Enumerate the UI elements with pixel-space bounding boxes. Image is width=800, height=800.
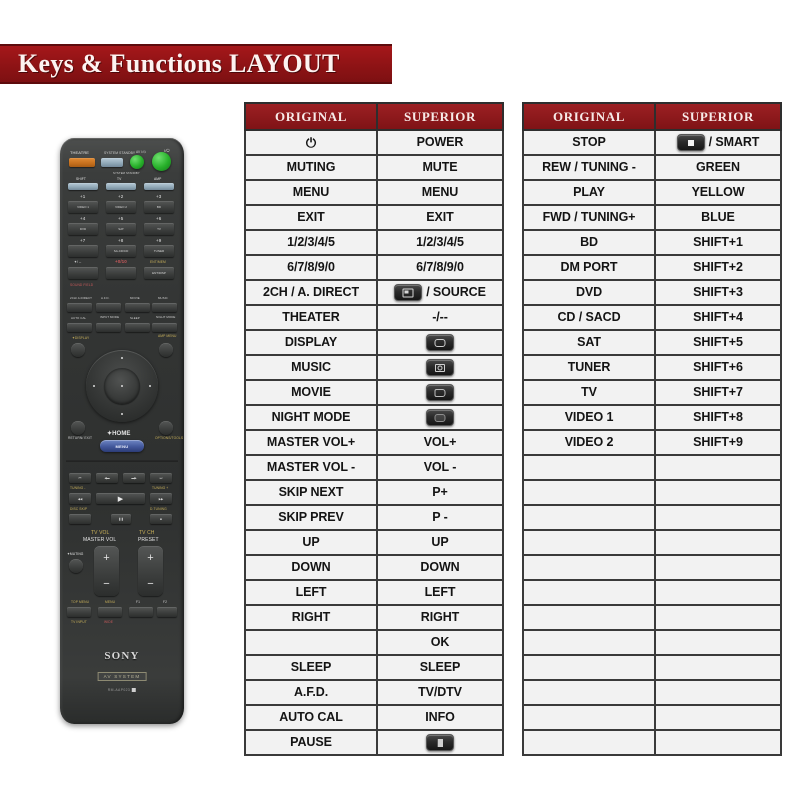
cell-original: ⏻ [245, 130, 377, 155]
muting-button[interactable] [69, 559, 83, 573]
cell-superior: UP [377, 530, 503, 555]
table-row: OK [245, 630, 503, 655]
cell-original: TUNER [523, 355, 655, 380]
cell-content: / SMART [658, 134, 778, 151]
title-banner: Keys & Functions LAYOUT [0, 44, 392, 84]
table-row: VIDEO 2SHIFT+9 [523, 430, 781, 455]
label-top-menu: TOP MENU [71, 600, 89, 604]
play-button[interactable]: ▶ [96, 493, 145, 504]
model-square-icon [132, 688, 136, 692]
cell-content: CD / SACD [526, 311, 652, 324]
cell-text: / SMART [709, 136, 760, 149]
sound-2ch-direct-button[interactable] [67, 303, 92, 312]
cell-content: 6/7/8/9/0 [248, 261, 374, 274]
cell-original: RIGHT [245, 605, 377, 630]
skip-prev-button[interactable]: ⏮ [69, 473, 91, 483]
cell-content: VOL+ [380, 436, 500, 449]
page-title: Keys & Functions LAYOUT [0, 49, 340, 79]
label-tv-input: TV INPUT [71, 620, 87, 624]
f2-button[interactable] [157, 607, 177, 617]
cell-text: EXIT [297, 211, 324, 224]
cell-text: DOWN [291, 561, 330, 574]
stop-button[interactable]: ■ [150, 514, 172, 524]
sound-music-button[interactable] [152, 303, 177, 312]
table-row: NIGHT MODE [245, 405, 503, 430]
cell-content: UP [248, 536, 374, 549]
cell-text: VIDEO 2 [565, 436, 614, 449]
cell-content: LEFT [248, 586, 374, 599]
sleep-button[interactable] [125, 323, 150, 332]
menu-button[interactable]: MENU [100, 440, 144, 452]
cell-text: SAT [577, 336, 601, 349]
cell-content: LEFT [380, 586, 500, 599]
cell-content: FWD / TUNING+ [526, 211, 652, 224]
table-row: 1/2/3/4/51/2/3/4/5 [245, 230, 503, 255]
cell-content: THEATER [248, 311, 374, 324]
cell-original: AUTO CAL [245, 705, 377, 730]
table-row: MASTER VOL -VOL - [245, 455, 503, 480]
cell-superior [655, 580, 781, 605]
cell-superior: YELLOW [655, 180, 781, 205]
cell-text: MUSIC [291, 361, 331, 374]
table-row: BDSHIFT+1 [523, 230, 781, 255]
cell-text: SHIFT+9 [693, 436, 743, 449]
av-system-badge: AV SYSTEM [98, 672, 147, 681]
cell-content: DVD [526, 286, 652, 299]
cell-content: SHIFT+9 [658, 436, 778, 449]
volume-down-icon[interactable]: − [103, 579, 109, 590]
header-superior-right: SUPERIOR [655, 103, 781, 130]
blank-button-1[interactable] [68, 245, 98, 257]
cell-text: 1/2/3/4/5 [287, 236, 335, 249]
cell-superior: / SOURCE [377, 280, 503, 305]
cell-content [380, 409, 500, 426]
dpad[interactable] [86, 350, 158, 422]
table-row: TUNERSHIFT+6 [523, 355, 781, 380]
cell-original: A.F.D. [245, 680, 377, 705]
cell-content: TUNER [526, 361, 652, 374]
cell-original [523, 580, 655, 605]
cell-content: 2CH / A. DIRECT [248, 286, 374, 299]
cell-text: RIGHT [292, 611, 330, 624]
cell-superior [655, 505, 781, 530]
dpad-right-icon[interactable] [149, 385, 151, 387]
table-row: EXITEXIT [245, 205, 503, 230]
cell-superior: INFO [377, 705, 503, 730]
cell-text: MASTER VOL+ [267, 436, 355, 449]
rewind-button[interactable]: ◀◀ [69, 493, 91, 504]
cell-superior: DOWN [377, 555, 503, 580]
cell-text: SHIFT+7 [693, 386, 743, 399]
channel-preset-rocker[interactable]: + − [138, 546, 163, 596]
cell-superior [655, 480, 781, 505]
cell-superior: TV/DTV [377, 680, 503, 705]
cell-original: BD [523, 230, 655, 255]
pause-button[interactable]: ❚❚ [111, 514, 131, 524]
table-row: LEFTLEFT [245, 580, 503, 605]
table-row: MUSIC [245, 355, 503, 380]
cell-text: LEFT [425, 586, 456, 599]
cell-content: ⏻ [248, 136, 374, 149]
table-row [523, 730, 781, 755]
label-key-3: +3 [156, 194, 161, 199]
amp-menu-button[interactable] [159, 343, 173, 357]
bottom-menu-button[interactable] [98, 607, 122, 617]
cell-text: BLUE [701, 211, 735, 224]
cell-text: THEATER [282, 311, 339, 324]
video1-button[interactable]: VIDEO 1 [68, 201, 98, 213]
cell-content: BLUE [658, 211, 778, 224]
cell-original: SKIP PREV [245, 505, 377, 530]
table-row [523, 555, 781, 580]
cell-superior [655, 630, 781, 655]
cell-superior: SHIFT+3 [655, 280, 781, 305]
cell-superior: GREEN [655, 155, 781, 180]
cell-content: / SOURCE [380, 284, 500, 301]
cell-content: 1/2/3/4/5 [380, 236, 500, 249]
dpad-center-dot-icon [121, 385, 123, 387]
label-preset: PRESET [138, 537, 159, 543]
cell-content [380, 384, 500, 401]
cell-original: NIGHT MODE [245, 405, 377, 430]
table-row: ⏻POWER [245, 130, 503, 155]
options-tools-button[interactable] [159, 421, 173, 435]
cell-superior: VOL+ [377, 430, 503, 455]
music-button-icon [426, 359, 454, 376]
cell-superior [377, 405, 503, 430]
cell-superior: SHIFT+7 [655, 380, 781, 405]
cell-content: VIDEO 2 [526, 436, 652, 449]
cell-text: SHIFT+2 [693, 261, 743, 274]
cell-text: P+ [432, 486, 447, 499]
label-key-5: +5 [118, 216, 123, 221]
table-row [523, 655, 781, 680]
cell-superior: P - [377, 505, 503, 530]
shift-button[interactable] [68, 183, 98, 190]
label-key-4: +4 [80, 216, 85, 221]
table-row: SKIP NEXTP+ [245, 480, 503, 505]
label-tuning-minus: TUNING - [70, 486, 85, 490]
label-f1: F1 [136, 600, 140, 604]
pause-button-icon [426, 734, 454, 751]
cell-content: MASTER VOL - [248, 461, 374, 474]
sound-afd-button[interactable] [96, 303, 121, 312]
cell-text: SHIFT+5 [693, 336, 743, 349]
cell-superior: VOL - [377, 455, 503, 480]
cell-content: VIDEO 1 [526, 411, 652, 424]
cell-superior: SHIFT+2 [655, 255, 781, 280]
cell-superior: P+ [377, 480, 503, 505]
cell-content: TV/DTV [380, 686, 500, 699]
amp-mode-button[interactable] [144, 183, 174, 190]
cell-text: AUTO CAL [279, 711, 343, 724]
sat-button[interactable]: SAT [106, 223, 136, 235]
cell-original: EXIT [245, 205, 377, 230]
f1-button[interactable] [129, 607, 153, 617]
cell-text: EXIT [426, 211, 453, 224]
remote-control-image: THEATRE SYSTEM STANDBY AV I/⏻ I/⏻ SYSTEM… [52, 138, 192, 734]
cell-content: MENU [380, 186, 500, 199]
sacd-cd-button[interactable]: SA-CD/CD [106, 245, 136, 257]
table-header-row: ORIGINAL SUPERIOR [245, 103, 503, 130]
header-superior-left: SUPERIOR [377, 103, 503, 130]
cell-text: UP [302, 536, 319, 549]
left-table-body: ⏻POWERMUTINGMUTEMENUMENUEXITEXIT1/2/3/4/… [245, 130, 503, 755]
label-master-vol: MASTER VOL [83, 537, 116, 543]
table-row: MENUMENU [245, 180, 503, 205]
label-wide: WIDE [104, 620, 113, 624]
cell-superior [655, 455, 781, 480]
zero-button[interactable] [106, 267, 136, 279]
table-row: FWD / TUNING+BLUE [523, 205, 781, 230]
cell-content: NIGHT MODE [248, 411, 374, 424]
master-volume-rocker[interactable]: + − [94, 546, 119, 596]
label-shift: SHIFT [76, 177, 86, 181]
label-afd: A.F.D. [101, 296, 109, 300]
cell-text: TUNER [568, 361, 611, 374]
label-2ch-direct: 2CH/ A.DIRECT [70, 296, 92, 300]
top-menu-button[interactable] [67, 607, 91, 617]
cell-content: SHIFT+7 [658, 386, 778, 399]
label-key-8: +8 [118, 238, 123, 243]
cell-text: SKIP NEXT [279, 486, 344, 499]
cell-superior [655, 730, 781, 755]
cell-original [523, 605, 655, 630]
label-sleep: SLEEP [130, 316, 140, 320]
cell-text: NIGHT MODE [272, 411, 351, 424]
label-amp-menu: AMP MENU [158, 334, 177, 338]
cell-content: DOWN [380, 561, 500, 574]
cell-original: REW / TUNING - [523, 155, 655, 180]
source-button-icon [394, 284, 422, 301]
label-av-power: AV I/⏻ [136, 150, 146, 154]
cell-superior [655, 680, 781, 705]
cell-text: SHIFT+6 [693, 361, 743, 374]
display-button[interactable] [71, 343, 85, 357]
volume-up-icon[interactable]: + [103, 553, 109, 564]
cell-superior [655, 705, 781, 730]
cell-content: VOL - [380, 461, 500, 474]
cell-content [380, 734, 500, 751]
cell-original: UP [245, 530, 377, 555]
cell-original [523, 455, 655, 480]
label-input-mode: INPUT MODE [100, 315, 119, 319]
remote-body: THEATRE SYSTEM STANDBY AV I/⏻ I/⏻ SYSTEM… [60, 138, 184, 724]
label-bottom-menu: MENU [105, 600, 115, 604]
cell-superior [655, 555, 781, 580]
cell-content: SKIP NEXT [248, 486, 374, 499]
cell-original: TV [523, 380, 655, 405]
label-key-2: +2 [118, 194, 123, 199]
channel-up-icon[interactable]: + [147, 553, 153, 564]
cell-content: SHIFT+3 [658, 286, 778, 299]
cell-content: MENU [248, 186, 374, 199]
cell-original: SLEEP [245, 655, 377, 680]
model-number: RM-AAP023 [108, 688, 136, 692]
dpad-enter-button[interactable] [104, 368, 140, 404]
label-music: MUSIC [158, 296, 168, 300]
cell-text: DM PORT [561, 261, 618, 274]
cell-original [523, 480, 655, 505]
cell-superior [377, 380, 503, 405]
cell-superior: SHIFT+5 [655, 330, 781, 355]
cell-text: / SOURCE [426, 286, 486, 299]
cell-original: 1/2/3/4/5 [245, 230, 377, 255]
cell-content: BD [526, 236, 652, 249]
label-display: ✦DISPLAY [72, 336, 89, 340]
cell-superior: BLUE [655, 205, 781, 230]
table-row [523, 505, 781, 530]
cell-content: SLEEP [248, 661, 374, 674]
cell-content: SLEEP [380, 661, 500, 674]
cell-text: PAUSE [290, 736, 332, 749]
label-system-standby: SYSTEM STANDBY [113, 171, 140, 175]
right-mapping-table: ORIGINAL SUPERIOR STOP/ SMARTREW / TUNIN… [522, 102, 782, 756]
cell-original: MUTING [245, 155, 377, 180]
cell-content: RIGHT [380, 611, 500, 624]
cell-text: POWER [417, 136, 464, 149]
label-sound-field: SOUND FIELD [70, 283, 93, 287]
table-row: MUTINGMUTE [245, 155, 503, 180]
dpad-down-icon[interactable] [121, 413, 123, 415]
cell-content: SHIFT+1 [658, 236, 778, 249]
cell-superior [377, 730, 503, 755]
cell-superior: POWER [377, 130, 503, 155]
sound-movie-button[interactable] [125, 303, 150, 312]
header-original-left: ORIGINAL [245, 103, 377, 130]
label-tuning-plus: TUNING + [152, 486, 168, 490]
label-amp: AMP [154, 177, 161, 181]
table-row: UPUP [245, 530, 503, 555]
input-mode-button[interactable] [96, 323, 121, 332]
cell-superior: EXIT [377, 205, 503, 230]
cell-original: THEATER [245, 305, 377, 330]
cell-content: SKIP PREV [248, 511, 374, 524]
cell-content: SHIFT+4 [658, 311, 778, 324]
cell-text: -/-- [432, 311, 448, 324]
cell-superior: SHIFT+1 [655, 230, 781, 255]
table-row [523, 705, 781, 730]
label-return-exit: RETURN/ EXIT [68, 436, 92, 440]
table-row: DVDSHIFT+3 [523, 280, 781, 305]
cell-superior: SHIFT+6 [655, 355, 781, 380]
cell-content: DM PORT [526, 261, 652, 274]
cell-text: GREEN [696, 161, 740, 174]
cell-content: DOWN [248, 561, 374, 574]
cell-superior: 6/7/8/9/0 [377, 255, 503, 280]
cell-content: P+ [380, 486, 500, 499]
cell-original: DM PORT [523, 255, 655, 280]
auto-cal-button[interactable] [67, 323, 92, 332]
tv-input-button[interactable]: TV [144, 223, 174, 235]
dpad-left-icon[interactable] [93, 385, 95, 387]
cell-text: 6/7/8/9/0 [287, 261, 335, 274]
label-home: ✦HOME [107, 430, 131, 437]
step-back-button[interactable]: ◀▬ [96, 473, 118, 483]
dvd-button[interactable]: DVD [68, 223, 98, 235]
cell-text: STOP [572, 136, 605, 149]
sony-logo: SONY [60, 650, 184, 662]
table-row: STOP/ SMART [523, 130, 781, 155]
channel-down-icon[interactable]: − [147, 579, 153, 590]
power-icon: ⏻ [306, 136, 316, 149]
table-row: SATSHIFT+5 [523, 330, 781, 355]
cell-superior: 1/2/3/4/5 [377, 230, 503, 255]
cell-content: REW / TUNING - [526, 161, 652, 174]
label-d-tuning: D.TUNING [150, 507, 167, 511]
table-row [523, 630, 781, 655]
ent-disp-button[interactable]: ENT/DISP [144, 267, 174, 279]
system-standby-button[interactable] [101, 158, 123, 167]
cell-content: MUTE [380, 161, 500, 174]
cell-original [523, 505, 655, 530]
av-power-button[interactable] [130, 155, 144, 169]
return-exit-button[interactable] [71, 421, 85, 435]
tv-mode-button[interactable] [106, 183, 136, 190]
table-row: PLAYYELLOW [523, 180, 781, 205]
power-button[interactable] [152, 152, 171, 171]
cell-original: PAUSE [245, 730, 377, 755]
dpad-up-icon[interactable] [121, 357, 123, 359]
table-row: SLEEPSLEEP [245, 655, 503, 680]
cell-content: 1/2/3/4/5 [248, 236, 374, 249]
cell-text: VOL+ [424, 436, 457, 449]
cell-content: SHIFT+8 [658, 411, 778, 424]
cell-original [523, 555, 655, 580]
label-key-1: +1 [80, 194, 85, 199]
bd-button[interactable]: BD [144, 201, 174, 213]
theatre-button[interactable] [69, 158, 95, 167]
table-row [523, 480, 781, 505]
cell-text: TV/DTV [418, 686, 462, 699]
table-row: THEATER-/-- [245, 305, 503, 330]
cell-content: SAT [526, 336, 652, 349]
blank-button-2[interactable] [68, 267, 98, 279]
cell-original: SAT [523, 330, 655, 355]
label-movie: MOVIE [130, 296, 140, 300]
label-ent-mem: ENT/MEM [150, 260, 166, 264]
night-mode-button[interactable] [152, 323, 177, 332]
cell-content: UP [380, 536, 500, 549]
fast-forward-button[interactable]: ▶▶ [150, 493, 172, 504]
remote-divider [66, 460, 178, 462]
cell-text: SHIFT+3 [693, 286, 743, 299]
table-row: SKIP PREVP - [245, 505, 503, 530]
cell-superior [377, 355, 503, 380]
disc-skip-button[interactable] [69, 514, 91, 524]
cell-content: GREEN [658, 161, 778, 174]
cell-original: VIDEO 1 [523, 405, 655, 430]
cell-original: PLAY [523, 180, 655, 205]
label-tv: TV [117, 177, 121, 181]
step-fwd-button[interactable]: ▬▶ [123, 473, 145, 483]
cell-text: MENU [293, 186, 329, 199]
table-row [523, 605, 781, 630]
label-options-tools: OPTIONS/TOOLS [155, 436, 183, 440]
video2-button[interactable]: VIDEO 2 [106, 201, 136, 213]
label-night-mode: NIGHT MODE [156, 315, 175, 319]
cell-content: TV [526, 386, 652, 399]
cell-text: MASTER VOL - [267, 461, 355, 474]
tuner-button[interactable]: TUNER [144, 245, 174, 257]
stop-button-icon [677, 134, 705, 151]
cell-text: VIDEO 1 [565, 411, 614, 424]
cell-original: MUSIC [245, 355, 377, 380]
label-key-0: +0/10 [115, 259, 127, 264]
cell-content: MASTER VOL+ [248, 436, 374, 449]
cell-original [523, 630, 655, 655]
skip-next-button[interactable]: ⏭ [150, 473, 172, 483]
